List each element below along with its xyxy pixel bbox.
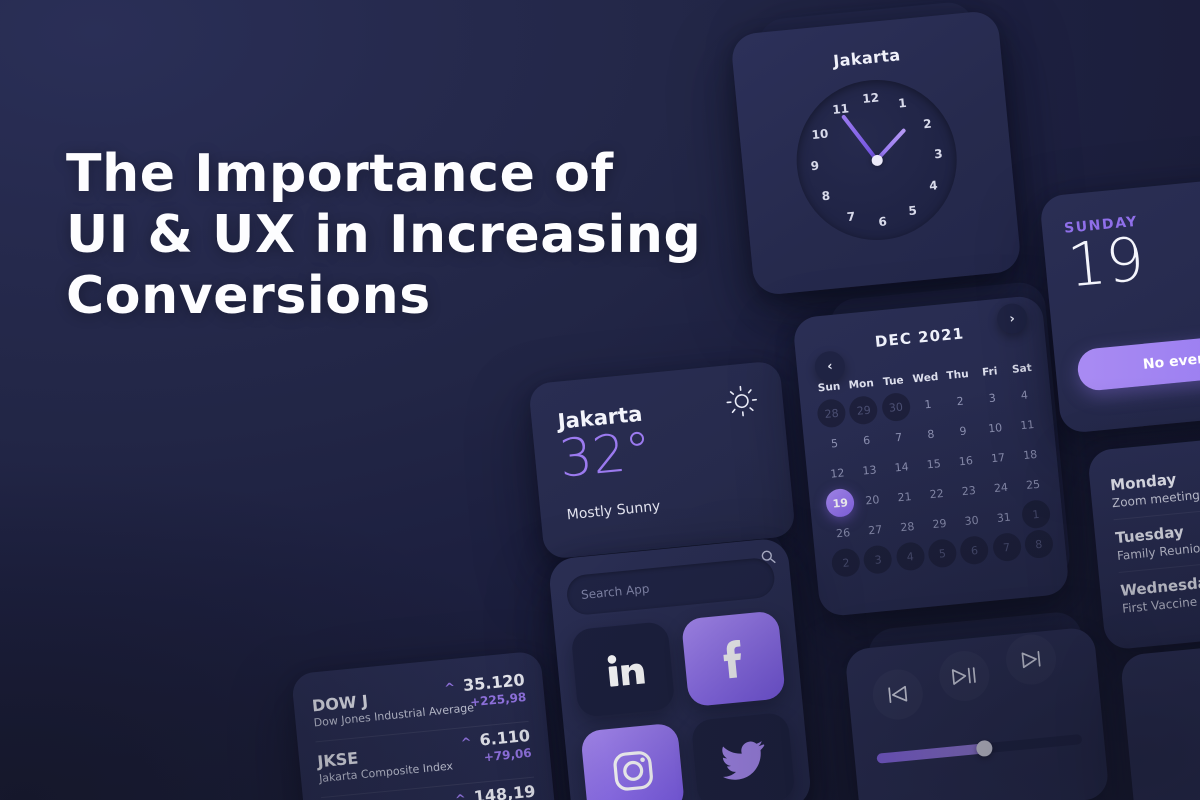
- calendar-day-header: Wed: [909, 371, 943, 390]
- playback-progress-slider[interactable]: [876, 734, 1082, 764]
- calendar-day-cell[interactable]: 5: [819, 428, 850, 459]
- clock-face: 12 1 2 3 4 5 6 7 8 9 10 11: [789, 73, 964, 248]
- extra-widget-card[interactable]: [1120, 641, 1200, 800]
- trend-up-icon: ^: [444, 681, 456, 697]
- calendar-day-header: Thu: [941, 368, 975, 387]
- calendar-day-cell[interactable]: 2: [945, 386, 976, 417]
- weather-temperature: 32°: [557, 425, 654, 486]
- search-placeholder: Search App: [580, 582, 650, 602]
- calendar-day-cell[interactable]: 23: [953, 475, 984, 506]
- app-tile-linkedin[interactable]: [570, 621, 675, 718]
- schedule-row[interactable]: MondayZoom meeting for: [1109, 449, 1200, 519]
- play-pause-button[interactable]: [937, 649, 992, 704]
- next-track-icon: [1018, 648, 1044, 670]
- calendar-day-cell[interactable]: 31: [988, 502, 1019, 533]
- calendar-day-cell[interactable]: 25: [1018, 469, 1049, 500]
- calendar-day-cell[interactable]: 30: [956, 505, 987, 536]
- clock-city-label: Jakarta: [733, 36, 1002, 81]
- calendar-day-cell[interactable]: 1: [913, 389, 944, 420]
- calendar-day-header: Sun: [812, 380, 846, 399]
- search-icon[interactable]: [760, 548, 777, 565]
- calendar-day-cell[interactable]: 8: [1024, 529, 1055, 560]
- wallpaper-canvas: The Importance of UI & UX in Increasing …: [0, 0, 1200, 800]
- weather-widget[interactable]: Jakarta 32° Mostly Sunny: [528, 360, 796, 559]
- calendar-widget[interactable]: ‹ › DEC 2021 SunMonTueWedThuFriSat282930…: [792, 295, 1070, 618]
- schedule-list[interactable]: MondayZoom meeting forTuesdayFamily Reun…: [1109, 449, 1200, 624]
- calendar-day-cell[interactable]: 1: [1021, 499, 1052, 530]
- calendar-day-cell[interactable]: 24: [986, 472, 1017, 503]
- calendar-grid[interactable]: SunMonTueWedThuFriSat2829301234567891011…: [812, 361, 1056, 578]
- calendar-day-cell[interactable]: 2: [831, 547, 862, 578]
- playback-progress-knob[interactable]: [976, 740, 993, 757]
- calendar-day-cell[interactable]: 21: [889, 481, 920, 512]
- calendar-day-cell[interactable]: 13: [854, 455, 885, 486]
- clock-minute-hand: [841, 114, 878, 161]
- calendar-day-cell[interactable]: 14: [886, 452, 917, 483]
- clock-widget[interactable]: Jakarta 12 1 2 3 4 5 6 7 8 9 10 11: [730, 10, 1022, 296]
- calendar-day-cell[interactable]: 7: [883, 422, 914, 453]
- calendar-day-cell[interactable]: 4: [895, 541, 926, 572]
- calendar-day-cell[interactable]: 19: [825, 488, 856, 519]
- calendar-day-cell[interactable]: 28: [892, 511, 923, 542]
- app-tile-facebook[interactable]: [681, 610, 786, 707]
- calendar-day-cell[interactable]: 4: [1009, 379, 1040, 410]
- calendar-day-cell[interactable]: 3: [977, 383, 1008, 414]
- calendar-day-cell[interactable]: 11: [1012, 409, 1043, 440]
- calendar-day-cell[interactable]: 12: [822, 458, 853, 489]
- calendar-day-cell[interactable]: 6: [959, 535, 990, 566]
- calendar-day-cell[interactable]: 28: [816, 398, 847, 429]
- clock-center-pin: [871, 154, 883, 166]
- next-track-button[interactable]: [1004, 632, 1059, 687]
- calendar-day-cell[interactable]: 30: [881, 392, 912, 423]
- trend-up-icon: ^: [454, 792, 466, 800]
- calendar-day-cell[interactable]: 7: [991, 532, 1022, 563]
- calendar-day-cell[interactable]: 27: [860, 514, 891, 545]
- previous-track-icon: [885, 683, 911, 705]
- linkedin-icon: [599, 645, 647, 693]
- instagram-icon: [610, 748, 656, 794]
- weather-condition: Mostly Sunny: [566, 498, 661, 523]
- search-input[interactable]: Search App: [565, 557, 776, 617]
- sun-icon: [723, 383, 760, 420]
- play-pause-icon: [949, 665, 979, 688]
- calendar-day-cell[interactable]: 29: [924, 508, 955, 539]
- playback-progress-fill: [876, 744, 984, 764]
- calendar-month-title: DEC 2021: [794, 317, 1045, 359]
- stocks-list[interactable]: ^35.120+225,98DOW JDow Jones Industrial …: [310, 666, 536, 800]
- calendar-day-cell[interactable]: 15: [918, 448, 949, 479]
- calendar-day-cell[interactable]: 17: [983, 442, 1014, 473]
- calendar-day-cell[interactable]: 9: [948, 416, 979, 447]
- apps-widget[interactable]: Search App: [548, 537, 813, 800]
- trend-up-icon: ^: [460, 735, 472, 751]
- previous-track-button[interactable]: [871, 667, 926, 722]
- calendar-day-header: Tue: [877, 374, 911, 393]
- calendar-day-cell[interactable]: 20: [857, 485, 888, 516]
- calendar-day-cell[interactable]: 26: [828, 518, 859, 549]
- stock-value: ^148,19: [454, 782, 536, 800]
- calendar-day-cell[interactable]: 5: [927, 538, 958, 569]
- calendar-day-cell[interactable]: 22: [921, 478, 952, 509]
- calendar-day-header: Mon: [845, 377, 879, 396]
- music-player-widget[interactable]: [844, 626, 1109, 800]
- calendar-day-cell[interactable]: 16: [951, 445, 982, 476]
- stocks-widget[interactable]: ^35.120+225,98DOW JDow Jones Industrial …: [291, 650, 559, 800]
- app-tile-instagram[interactable]: [580, 722, 685, 800]
- twitter-icon: [719, 739, 766, 781]
- stock-values: ^148,19: [454, 782, 536, 800]
- calendar-day-cell[interactable]: 8: [916, 419, 947, 450]
- calendar-day-header: Sat: [1005, 361, 1039, 380]
- facebook-icon: [711, 635, 755, 683]
- date-day-number: 19: [1065, 229, 1147, 296]
- calendar-day-cell[interactable]: 18: [1015, 439, 1046, 470]
- page-title: The Importance of UI & UX in Increasing …: [66, 144, 701, 326]
- calendar-day-cell[interactable]: 29: [848, 395, 879, 426]
- calendar-day-cell[interactable]: 6: [851, 425, 882, 456]
- calendar-day-header: Fri: [973, 364, 1007, 383]
- no-events-pill[interactable]: No events: [1076, 330, 1200, 392]
- app-tile-grid[interactable]: [570, 610, 795, 800]
- stock-values: ^6.110+79,06: [460, 726, 532, 767]
- schedule-widget[interactable]: MondayZoom meeting forTuesdayFamily Reun…: [1087, 429, 1200, 650]
- app-tile-twitter[interactable]: [691, 712, 796, 800]
- calendar-day-cell[interactable]: 10: [980, 412, 1011, 443]
- calendar-day-cell[interactable]: 3: [863, 544, 894, 575]
- date-widget[interactable]: SUNDAY 19 No events: [1039, 176, 1200, 434]
